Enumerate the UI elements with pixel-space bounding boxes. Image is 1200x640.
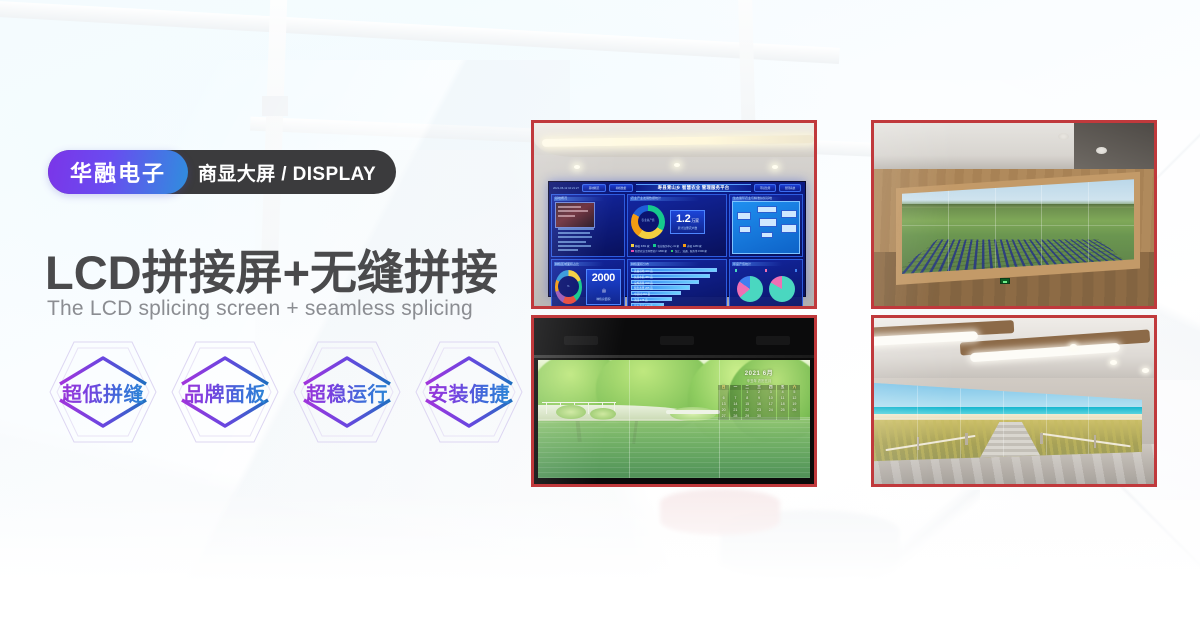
dashboard-title: 寿县青山乡 智慧农业 管理服务平台 — [636, 184, 751, 192]
card-title: 农业产业发展数据统计 — [631, 196, 661, 200]
bar-label: 特色水果 265 亩 — [634, 286, 653, 290]
railing-post — [1040, 433, 1043, 444]
screen-top-bezel — [534, 318, 814, 358]
bar-label: 设施蔬菜 310 亩 — [634, 281, 653, 285]
calendar-title: 2021 6月 — [718, 368, 800, 377]
brand-logo-text: 华融电子 — [70, 156, 166, 188]
horizon-line — [902, 204, 1134, 208]
calendar-day: 27 — [718, 414, 729, 419]
ceiling-downlight — [1058, 133, 1069, 140]
bar-label: 苗木花卉 130 亩 — [634, 304, 653, 306]
lcd-video-wall: 2021 6月 辛丑年 农历五月 日 一 二 三 四 五 六 1 — [538, 360, 810, 478]
flow-diagram — [732, 201, 800, 254]
calendar-weekday: 一 — [730, 385, 741, 390]
feature-item-4[interactable]: 安装便捷 — [410, 336, 528, 448]
card-title: 基地概况 — [555, 196, 567, 200]
calendar-day: 26 — [789, 408, 800, 413]
kpi-value: 2000 — [592, 272, 615, 284]
calendar-day — [765, 414, 776, 419]
ceiling-downlight — [1096, 147, 1107, 154]
feature-label: 安装便捷 — [428, 378, 510, 407]
calendar-day: 25 — [777, 408, 788, 413]
feature-item-1[interactable]: 超低拼缝 — [44, 336, 162, 448]
kpi-box: 1.2万家 累计注册农户数 — [670, 210, 705, 235]
feature-item-3[interactable]: 超稳运行 — [288, 336, 406, 448]
dashboard-grid: 基地概况 — [551, 194, 803, 306]
calendar-weekday: 日 — [718, 385, 729, 390]
background-bottom-fade — [0, 490, 1200, 640]
bar-label: 中药材 210 亩 — [634, 292, 650, 296]
feature-item-2[interactable]: 品牌面板 — [166, 336, 284, 448]
pie-chart — [769, 276, 795, 302]
bar-label: 茶园 175 亩 — [634, 298, 648, 302]
pond-water — [538, 417, 810, 478]
room-scene: 2021 6月 辛丑年 农历五月 日 一 二 三 四 五 六 1 — [534, 318, 814, 484]
page-subtitle: The LCD splicing screen + seamless splic… — [47, 297, 473, 321]
ceiling-spotlight — [574, 165, 580, 169]
chart-legend — [733, 269, 799, 272]
calendar-day: 30 — [753, 414, 764, 419]
kpi-unit: 万家 — [691, 218, 698, 223]
dashboard-card-area-ratio: 种植区域面积占比 % 2000亩 种植总面积 — [551, 259, 625, 306]
dashboard-nav-item[interactable]: 基地概况 — [582, 184, 606, 192]
bar-chart: 莲藕基地 420 亩 优质水稻 380 亩 设施蔬菜 310 亩 特色水果 26… — [631, 267, 723, 306]
pie-chart — [737, 276, 763, 302]
legend-label: 新型农业主体经营户 1890 家 — [635, 249, 667, 253]
calendar-overlay: 2021 6月 辛丑年 农历五月 日 一 二 三 四 五 六 1 — [718, 368, 800, 420]
kpi-box: 2000亩 种植总面积 — [586, 269, 621, 305]
chart-legend: 种植 3451 家 农业服务中心 41 家 养殖 1280 家 新型农业主体经营… — [631, 244, 723, 254]
kpi-unit: 亩 — [602, 288, 606, 293]
dashboard-card-overview: 基地概况 — [551, 194, 625, 257]
pavilion-walkway — [666, 410, 720, 414]
calendar-day: 29 — [742, 414, 753, 419]
room-scene — [874, 318, 1154, 484]
calendar-day — [789, 414, 800, 419]
dashboard-nav-item[interactable]: 管理系统 — [779, 184, 801, 192]
legend-label: 加工、流通、服务等 1590 家 — [675, 249, 707, 253]
card-thumbnail — [555, 202, 595, 228]
railing-post — [965, 433, 968, 445]
ceiling-spotlight — [772, 165, 778, 169]
card-title: 种植面积分布 — [631, 262, 649, 266]
gallery-photo-dashboard[interactable]: 2021-06-12 10:21:27 基地概况 种植数据 寿县青山乡 智慧农业… — [531, 120, 817, 309]
donut-center-label: % — [558, 276, 579, 297]
kpi-caption: 累计注册农户数 — [676, 226, 699, 230]
feature-label: 品牌面板 — [184, 378, 266, 407]
ceiling-spotlight — [674, 163, 680, 167]
gallery-photo-beach-wall[interactable] — [871, 315, 1157, 487]
card-title: 生态循环农业与精准扶贫基地 — [733, 196, 772, 200]
ceiling-downlight — [1142, 368, 1149, 373]
calendar-day — [777, 414, 788, 419]
dashboard-card-output-pies: 年度产值统计 — [729, 259, 803, 306]
legend-label: 养殖 1280 家 — [687, 244, 701, 248]
legend-label: 种植 3451 家 — [635, 244, 649, 248]
donut-chart: % — [555, 270, 582, 304]
room-scene: 2021-06-12 10:21:27 基地概况 种植数据 寿县青山乡 智慧农业… — [534, 123, 814, 306]
ceiling-dark-panel — [1074, 123, 1154, 169]
dashboard-nav-item[interactable]: 种植数据 — [609, 184, 633, 192]
bar-label: 优质水稻 380 亩 — [634, 275, 653, 279]
calendar-grid: 日 一 二 三 四 五 六 1 2 3 4 — [718, 385, 800, 420]
bar-label: 莲藕基地 420 亩 — [634, 269, 653, 273]
room-scene — [874, 123, 1154, 306]
promo-banner: 华融电子 商显大屏 / DISPLAY LCD拼接屏+无缝拼接 The LCD … — [0, 0, 1200, 640]
ceiling-downlight — [1070, 344, 1077, 349]
ceiling-downlight — [1110, 360, 1117, 365]
page-title: LCD拼接屏+无缝拼接 — [45, 234, 498, 303]
railing-post — [1094, 435, 1097, 448]
card-title: 种植区域面积占比 — [555, 262, 579, 266]
dashboard-card-industry: 农业产业发展数据统计 农业总产值 1.2万家 累计注册农户数 — [627, 194, 727, 257]
dashboard-timestamp: 2021-06-12 10:21:27 — [553, 186, 579, 190]
card-text-lines — [558, 228, 594, 253]
lcd-video-wall: 2021-06-12 10:21:27 基地概况 种植数据 寿县青山乡 智慧农业… — [548, 181, 806, 297]
calendar-subtitle: 辛丑年 农历五月 — [718, 378, 800, 383]
dashboard-card-flowmap: 生态循环农业与精准扶贫基地 — [729, 194, 803, 257]
dashboard-card-area-bars: 种植面积分布 莲藕基地 420 亩 优质水稻 380 亩 设施蔬菜 310 亩 … — [627, 259, 727, 306]
dashboard-nav-item[interactable]: 环境监测 — [754, 184, 776, 192]
gallery-photo-solar-wall[interactable] — [871, 120, 1157, 309]
brand-logo-pill: 华融电子 — [48, 150, 188, 194]
card-title: 年度产值统计 — [733, 262, 751, 266]
calendar-day: 24 — [765, 408, 776, 413]
donut-chart: 农业总产值 — [631, 205, 665, 239]
feature-label: 超低拼缝 — [62, 378, 144, 407]
exit-sign-icon — [1000, 278, 1010, 284]
feature-label: 超稳运行 — [306, 378, 388, 407]
legend-label: 农业服务中心 41 家 — [657, 244, 679, 248]
gallery-photo-garden-wall[interactable]: 2021 6月 辛丑年 农历五月 日 一 二 三 四 五 六 1 — [531, 315, 817, 487]
pie-chart-group — [733, 276, 799, 302]
brand-row: 华融电子 商显大屏 / DISPLAY — [48, 150, 396, 194]
kpi-caption: 种植总面积 — [592, 297, 615, 301]
dashboard-header: 2021-06-12 10:21:27 基地概况 种植数据 寿县青山乡 智慧农业… — [551, 184, 803, 192]
brand-category-text: 商显大屏 / DISPLAY — [198, 159, 376, 186]
kpi-value: 1.2 — [676, 213, 690, 225]
calendar-day: 28 — [730, 414, 741, 419]
feature-list: 超低拼缝 品牌面板 超稳运行 — [44, 336, 528, 448]
donut-center-label: 农业总产值 — [638, 211, 659, 232]
